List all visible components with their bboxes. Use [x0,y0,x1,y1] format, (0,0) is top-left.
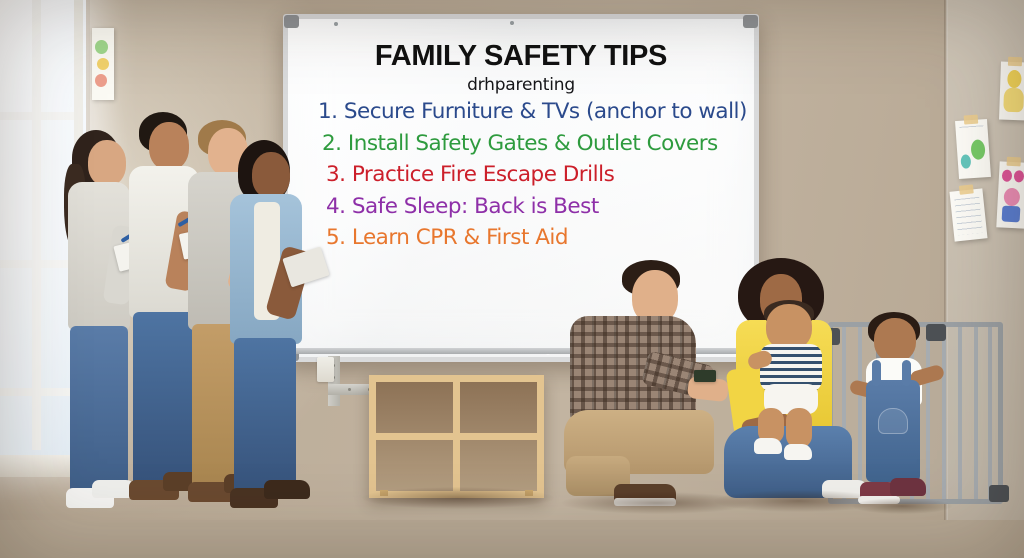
leg [786,408,812,448]
person-baby [752,300,836,460]
head [874,318,916,362]
overall-strap [872,360,881,386]
cube-bookshelf [369,375,544,498]
whiteboard-title: FAMILY SAFETY TIPS [304,42,738,71]
head [252,152,290,198]
sock [754,438,782,454]
person-kneeling-father [560,260,740,515]
safety-tip-4: 4. Safe Sleep: Back is Best [304,196,738,218]
safety-tip-3: 3. Practice Fire Escape Drills [304,164,738,186]
legs [234,338,296,498]
growth-chart-left [92,28,114,100]
overall-pocket [878,408,908,434]
toddler-shadow [852,498,952,514]
shelf-shadow [362,487,554,509]
head [88,140,126,186]
tape-piece [1008,57,1022,66]
shoe [264,480,310,499]
safety-tip-1: 1. Secure Furniture & TVs (anchor to wal… [304,101,738,123]
outlet-cover-in-hand [694,370,716,382]
shoe [890,478,926,496]
whiteboard-subtitle: drhparenting [304,75,738,95]
safety-tip-5: 5. Learn CPR & First Aid [304,227,738,249]
tape-piece [964,115,979,125]
safety-tip-2: 2. Install Safety Gates & Outlet Covers [304,133,738,155]
childrens-drawing-3 [949,188,987,241]
sock [784,444,812,460]
safety-tips-list: 1. Secure Furniture & TVs (anchor to wal… [304,101,738,249]
childrens-drawing-2 [999,62,1024,121]
wall-outlet-cover [317,357,334,382]
tape-piece [958,184,973,194]
legs [70,326,128,496]
person-woman-denim-shirt [226,140,318,520]
gate-mount-bracket [989,485,1009,502]
person-toddler [856,312,936,512]
childrens-drawing-4 [996,161,1024,228]
overall-strap [902,360,911,386]
room-scene: FAMILY SAFETY TIPS drhparenting 1. Secur… [0,0,1024,558]
tape-piece [1007,157,1021,167]
childrens-drawing-1 [955,119,991,179]
